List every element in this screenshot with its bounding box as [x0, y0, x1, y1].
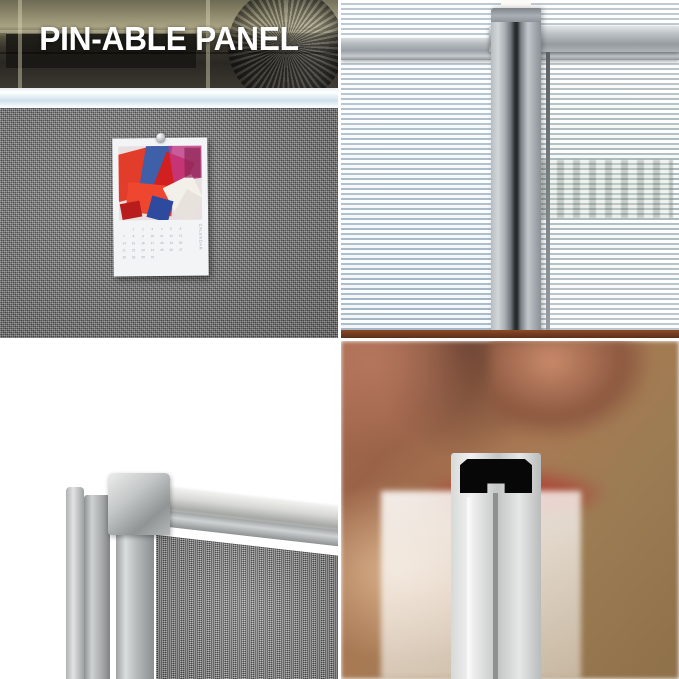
calendar-date-cell — [157, 254, 167, 261]
calendar-date-grid: 1234567891011121314151617181920212223242… — [119, 226, 185, 271]
calendar-date-cell: 31 — [148, 254, 157, 261]
fabric-panel-insert — [156, 535, 338, 679]
floor-light-strip — [0, 88, 338, 108]
calendar-date-cell — [176, 254, 186, 261]
frame-vertical-post-secondary — [84, 495, 110, 679]
calendar-side-label: CALENDAR — [193, 224, 204, 272]
frame-vertical-post-tertiary — [66, 487, 84, 679]
glass-edge — [546, 52, 550, 338]
extrusion-highlight — [467, 497, 473, 679]
post-cap — [491, 8, 541, 22]
panel-light-aircraft-aluminum-frame: LIGHT AIRCRAFT ALUMINUM FRAME — [0, 341, 338, 679]
feature-collage: 1234567891011121314151617181920212223242… — [0, 0, 679, 679]
panel-pin-able: 1234567891011121314151617181920212223242… — [0, 0, 338, 338]
frame-corner-cap — [108, 473, 170, 535]
calendar-date-cell: 30 — [138, 254, 148, 261]
calendar-date-cell — [167, 254, 176, 261]
panel-toolless-assembly: TOOLLESS ASSEMBLY — [341, 341, 679, 679]
aluminum-extrusion-profile — [451, 453, 541, 679]
calendar-artwork — [118, 146, 202, 221]
frame-vertical-post — [116, 521, 154, 679]
caption-pin-able-panel: PIN-ABLE PANEL — [7, 22, 331, 57]
aluminum-connector-post — [491, 8, 541, 338]
extrusion-slot — [493, 493, 498, 679]
frame-corner-photo — [64, 459, 338, 679]
wood-floor-band — [341, 330, 679, 338]
calendar-date-cell: 28 — [119, 254, 128, 261]
horizontal-divider — [0, 338, 679, 341]
push-pin-icon — [156, 133, 165, 142]
panel-customizable-configuration: CUSTOMIZABLE CONFIGURATION — [341, 0, 679, 338]
calendar-date-cell: 29 — [129, 254, 138, 261]
city-view-through-glass — [541, 160, 673, 218]
pinned-calendar: 1234567891011121314151617181920212223242… — [112, 138, 208, 277]
